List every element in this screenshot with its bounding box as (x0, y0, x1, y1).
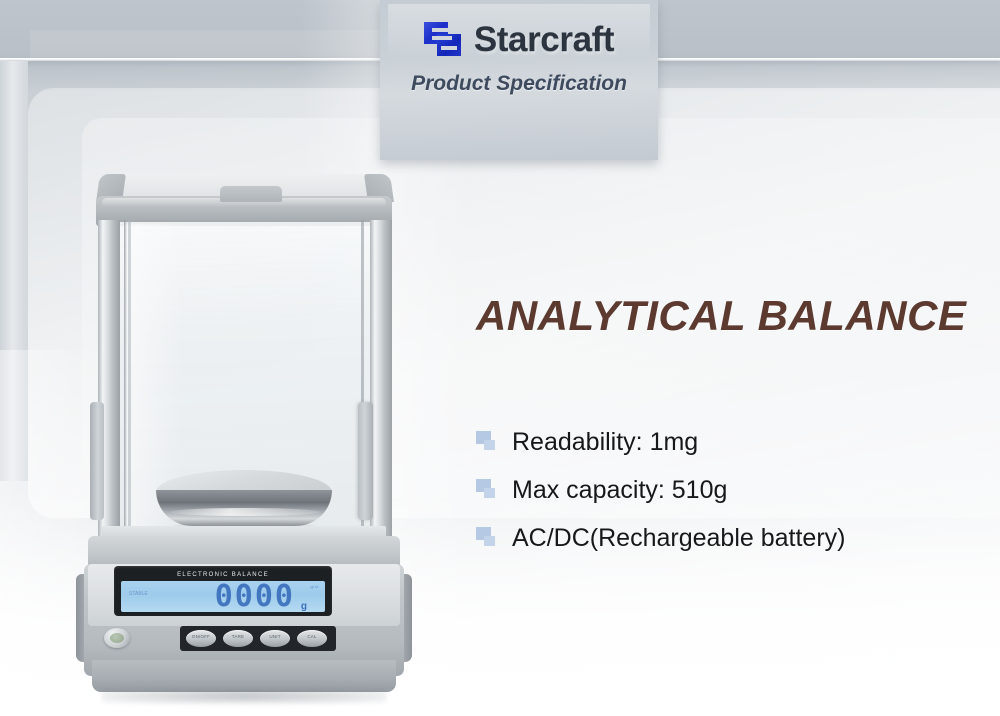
blue-square-bullet-icon (476, 431, 498, 453)
balance-base-shadow (102, 688, 386, 704)
blue-square-bullet-icon (476, 527, 498, 549)
post-edge-line (124, 220, 127, 538)
lcd-status-indicator: STABLE (129, 591, 148, 597)
background-left-column (0, 61, 28, 481)
spec-text: Max capacity: 510g (512, 476, 727, 505)
plaque-subtitle: Product Specification (411, 72, 627, 96)
page-title: ANALYTICAL BALANCE (476, 292, 966, 340)
keypad-button-label: TARE (223, 634, 253, 639)
keypad-button-tare[interactable]: TARE (223, 630, 253, 647)
list-item: Readability: 1mg (476, 418, 976, 466)
brand-name: Starcraft (474, 20, 614, 60)
brand-row: Starcraft (424, 20, 614, 60)
post-edge-line (128, 220, 131, 538)
power-level-indicator-icon[interactable] (104, 628, 130, 648)
draft-shield-door-handle-left (90, 402, 104, 520)
blue-square-bullet-icon (476, 479, 498, 501)
lcd-unit: g (301, 601, 307, 612)
weighing-pan-highlight (170, 508, 320, 516)
keypad-button-label: UNIT (260, 634, 290, 639)
spec-list: Readability: 1mg Max capacity: 510g AC/D… (476, 418, 976, 562)
brand-header-plaque: Starcraft Product Specification (380, 0, 658, 160)
keypad-button-on-off[interactable]: ON/OFF (186, 630, 216, 647)
keypad-button-cal[interactable]: CAL (297, 630, 327, 647)
keypad-button-unit[interactable]: UNIT (260, 630, 290, 647)
analytical-balance-image: ELECTRONIC BALANCE STABLE g/ct 0000 g ON… (58, 160, 438, 690)
lcd-corner-indicator: g/ct (311, 584, 319, 589)
draft-shield-post-right (370, 220, 392, 538)
keypad-button-label: ON/OFF (186, 634, 216, 639)
spec-text: AC/DC(Rechargeable battery) (512, 524, 845, 553)
product-specification-banner: Starcraft Product Specification ANALYTIC… (0, 0, 1000, 716)
spec-text: Readability: 1mg (512, 428, 698, 457)
draft-shield-handle (220, 186, 282, 202)
starcraft-logo-icon (424, 22, 462, 58)
draft-shield-door-handle-right (358, 402, 373, 520)
list-item: AC/DC(Rechargeable battery) (476, 514, 976, 562)
list-item: Max capacity: 510g (476, 466, 976, 514)
lcd-screen: STABLE g/ct 0000 g (121, 581, 325, 612)
keypad-button-label: CAL (297, 634, 327, 639)
lcd-reading: 0000 (215, 581, 295, 612)
display-label: ELECTRONIC BALANCE (114, 569, 332, 580)
